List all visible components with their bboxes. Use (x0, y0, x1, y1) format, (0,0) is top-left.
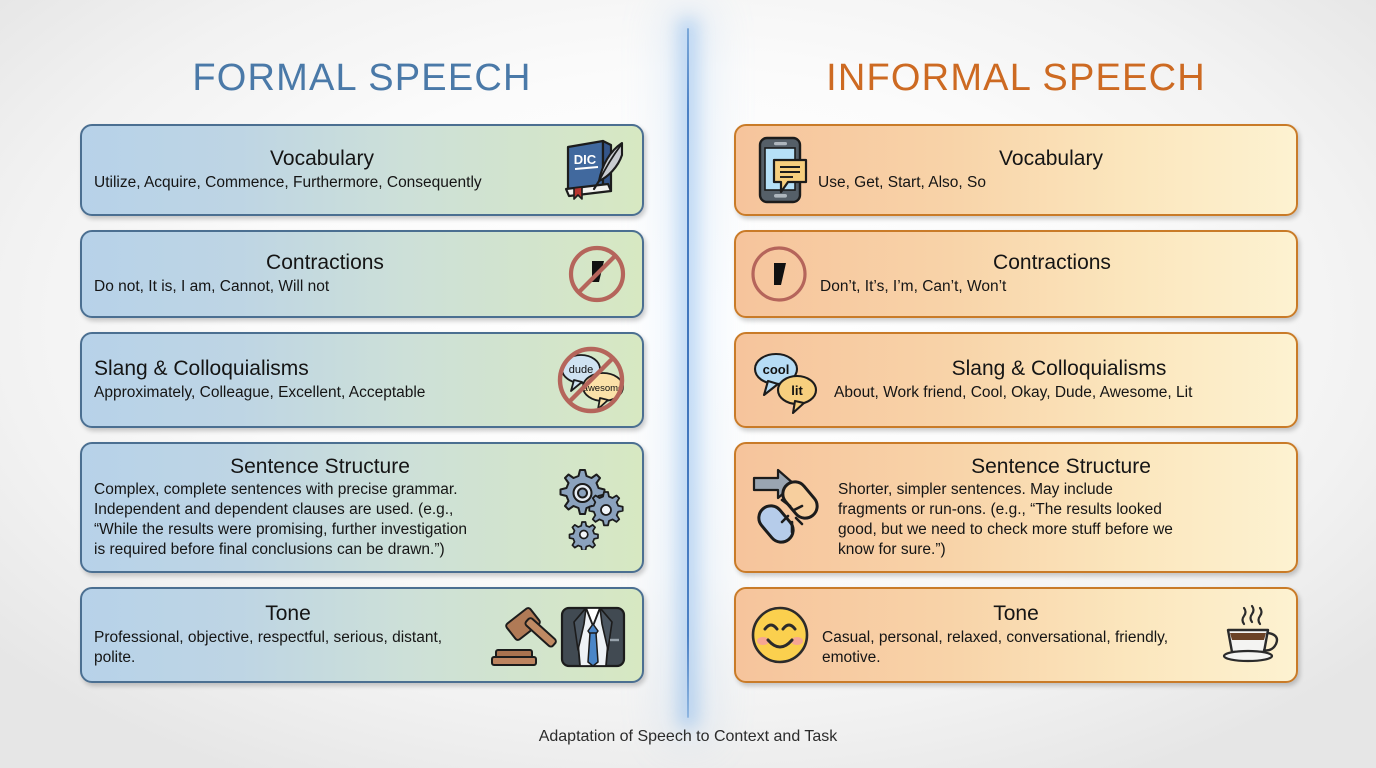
card-description: Professional, objective, respectful, ser… (94, 628, 482, 668)
card-title: Slang & Colloquialisms (834, 357, 1284, 381)
apostrophe-icon (748, 243, 810, 305)
card-text: Tone Professional, objective, respectful… (94, 602, 482, 668)
gavel-part (492, 607, 557, 665)
formal-card-list: Vocabulary Utilize, Acquire, Commence, F… (80, 124, 644, 683)
card-formal-contractions[interactable]: Contractions Do not, It is, I am, Cannot… (80, 230, 644, 318)
card-title: Contractions (94, 251, 556, 275)
slang-speech-bubbles-icon: cool lit (748, 343, 824, 417)
card-formal-tone[interactable]: Tone Professional, objective, respectful… (80, 587, 644, 683)
card-description: Utilize, Acquire, Commence, Furthermore,… (94, 173, 550, 193)
coffee-cup-icon (1218, 602, 1284, 668)
card-formal-sentence-structure[interactable]: Sentence Structure Complex, complete sen… (80, 442, 644, 573)
formal-column-title: FORMAL SPEECH (80, 55, 644, 101)
card-title: Vocabulary (94, 147, 550, 171)
card-title: Vocabulary (818, 147, 1284, 171)
informal-speech-column: INFORMAL SPEECH Vocabulary Use, Get, Sta… (734, 0, 1298, 697)
card-title: Sentence Structure (94, 455, 546, 479)
gavel-suit-icon (490, 600, 630, 670)
card-title: Tone (822, 602, 1210, 626)
card-informal-tone[interactable]: Tone Casual, personal, relaxed, conversa… (734, 587, 1298, 683)
dictionary-quill-icon: DIC (558, 137, 630, 203)
card-text: Vocabulary Use, Get, Start, Also, So (818, 147, 1284, 193)
card-text: Tone Casual, personal, relaxed, conversa… (822, 602, 1210, 668)
card-informal-slang[interactable]: cool lit Slang & Colloquialisms About, W… (734, 332, 1298, 428)
card-informal-vocabulary[interactable]: Vocabulary Use, Get, Start, Also, So (734, 124, 1298, 216)
card-text: Vocabulary Utilize, Acquire, Commence, F… (94, 147, 550, 193)
card-description: About, Work friend, Cool, Okay, Dude, Aw… (834, 383, 1284, 403)
card-formal-slang[interactable]: Slang & Colloquialisms Approximately, Co… (80, 332, 644, 428)
no-apostrophe-icon (564, 242, 630, 306)
card-informal-contractions[interactable]: Contractions Don’t, It’s, I’m, Can’t, Wo… (734, 230, 1298, 318)
center-divider (687, 28, 689, 718)
card-text: Sentence Structure Complex, complete sen… (94, 455, 546, 561)
card-title: Tone (94, 602, 482, 626)
broken-chain-arrow-icon (748, 462, 828, 554)
card-title: Slang & Colloquialisms (94, 357, 544, 381)
svg-text:DIC: DIC (574, 152, 597, 167)
card-text: Slang & Colloquialisms About, Work frien… (834, 357, 1284, 403)
card-text: Contractions Don’t, It’s, I’m, Can’t, Wo… (820, 251, 1284, 297)
slang-bubble-label-1: cool (763, 362, 790, 377)
suit-part (562, 608, 624, 666)
gears-icon (554, 466, 630, 550)
card-description: Shorter, simpler sentences. May include … (838, 480, 1284, 561)
informal-column-title: INFORMAL SPEECH (734, 55, 1298, 101)
card-informal-sentence-structure[interactable]: Sentence Structure Shorter, simpler sent… (734, 442, 1298, 573)
formal-speech-column: FORMAL SPEECH Vocabulary Utilize, Acquir… (80, 0, 644, 697)
card-text: Contractions Do not, It is, I am, Cannot… (94, 251, 556, 297)
informal-card-list: Vocabulary Use, Get, Start, Also, So Con… (734, 124, 1298, 683)
card-description: Approximately, Colleague, Excellent, Acc… (94, 383, 544, 403)
card-description: Complex, complete sentences with precise… (94, 480, 546, 561)
card-description: Do not, It is, I am, Cannot, Will not (94, 277, 556, 297)
smiley-face-icon (748, 603, 812, 667)
card-title: Sentence Structure (838, 455, 1284, 479)
slang-bubble-label-2: lit (791, 383, 803, 398)
card-description: Casual, personal, relaxed, conversationa… (822, 628, 1210, 668)
no-slang-speech-bubbles-icon: dude awesome (552, 342, 630, 418)
footer-caption: Adaptation of Speech to Context and Task (0, 728, 1376, 746)
card-text: Slang & Colloquialisms Approximately, Co… (94, 357, 544, 403)
card-formal-vocabulary[interactable]: Vocabulary Utilize, Acquire, Commence, F… (80, 124, 644, 216)
card-title: Contractions (820, 251, 1284, 275)
card-text: Sentence Structure Shorter, simpler sent… (838, 455, 1284, 561)
card-description: Use, Get, Start, Also, So (818, 173, 1284, 193)
phone-chat-icon (748, 134, 808, 206)
slang-bubble-label-1: dude (569, 364, 593, 376)
card-description: Don’t, It’s, I’m, Can’t, Won’t (820, 277, 1284, 297)
